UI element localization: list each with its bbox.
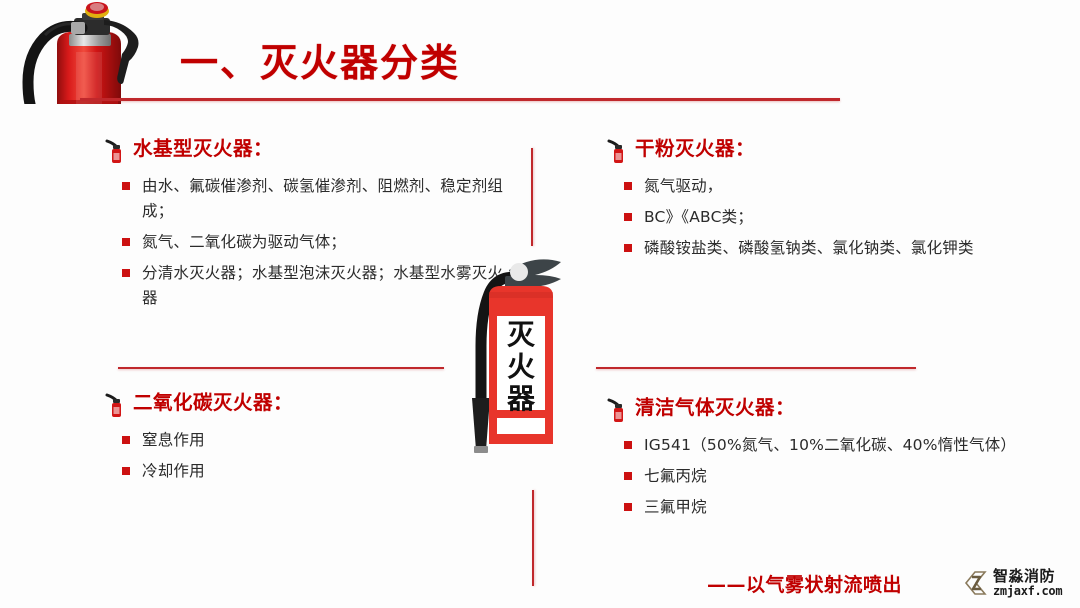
bullet-list: 氮气驱动， BC》《ABC类； 磷酸铵盐类、磷酸氢钠类、氯化钠类、氯化钾类 xyxy=(606,174,1016,261)
footer-note: ——以气雾状射流喷出 xyxy=(707,570,902,597)
svg-text:器: 器 xyxy=(506,382,536,415)
fire-extinguisher-photo-icon xyxy=(0,0,175,104)
section-heading-row: 干粉灭火器： xyxy=(606,138,1016,165)
brand-name: 智淼消防 xyxy=(993,569,1062,585)
list-item: 氮气驱动， xyxy=(644,174,1016,199)
list-item-text: 冷却作用 xyxy=(142,462,205,480)
section-heading-row: 清洁气体灭火器： xyxy=(606,397,1026,424)
list-item-text: BC》《ABC类； xyxy=(644,208,753,226)
square-bullet-icon xyxy=(624,213,632,221)
list-item: IG541（50%氮气、10%二氧化碳、40%惰性气体） xyxy=(644,433,1026,458)
bullet-list: 由水、氟碳催渗剂、碳氢催渗剂、阻燃剂、稳定剂组成； 氮气、二氧化碳为驱动气体； … xyxy=(104,174,504,312)
square-bullet-icon xyxy=(624,472,632,480)
divider-center-vertical-bottom xyxy=(532,490,534,586)
list-item: BC》《ABC类； xyxy=(644,205,1016,230)
brand-text-group: 智淼消防 zmjaxf.com xyxy=(993,569,1062,597)
square-bullet-icon xyxy=(122,182,130,190)
section-clean-gas-extinguisher: 清洁气体灭火器： IG541（50%氮气、10%二氧化碳、40%惰性气体） 七氟… xyxy=(606,397,1026,526)
svg-text:火: 火 xyxy=(507,350,535,383)
section-carbon-dioxide-extinguisher: 二氧化碳灭火器： 窒息作用 冷却作用 xyxy=(104,392,504,490)
bullet-list: 窒息作用 冷却作用 xyxy=(104,428,504,484)
square-bullet-icon xyxy=(624,244,632,252)
zmjaxf-logo-icon xyxy=(963,568,989,598)
section-heading-row: 二氧化碳灭火器： xyxy=(104,392,504,419)
list-item-text: 三氟甲烷 xyxy=(644,498,707,516)
fire-extinguisher-icon xyxy=(104,393,126,419)
fire-extinguisher-icon xyxy=(104,139,126,165)
list-item-text: 磷酸铵盐类、磷酸氢钠类、氯化钠类、氯化钾类 xyxy=(644,239,974,257)
brand-watermark: 智淼消防 zmjaxf.com xyxy=(963,568,1062,598)
square-bullet-icon xyxy=(122,467,130,475)
list-item: 三氟甲烷 xyxy=(644,495,1026,520)
square-bullet-icon xyxy=(624,182,632,190)
square-bullet-icon xyxy=(624,441,632,449)
bullet-list: IG541（50%氮气、10%二氧化碳、40%惰性气体） 七氟丙烷 三氟甲烷 xyxy=(606,433,1026,520)
divider-left-horizontal xyxy=(118,367,444,369)
list-item: 由水、氟碳催渗剂、碳氢催渗剂、阻燃剂、稳定剂组成； xyxy=(142,174,504,224)
list-item: 七氟丙烷 xyxy=(644,464,1026,489)
title-underline-divider xyxy=(80,98,840,101)
section-water-based-extinguisher: 水基型灭火器： 由水、氟碳催渗剂、碳氢催渗剂、阻燃剂、稳定剂组成； 氮气、二氧化… xyxy=(104,138,504,318)
section-heading-label: 二氧化碳灭火器： xyxy=(133,392,293,413)
square-bullet-icon xyxy=(122,269,130,277)
fire-extinguisher-illustration-icon: 灭 火 器 xyxy=(447,248,595,488)
list-item-text: 窒息作用 xyxy=(142,431,205,449)
list-item: 磷酸铵盐类、磷酸氢钠类、氯化钠类、氯化钾类 xyxy=(644,236,1016,261)
square-bullet-icon xyxy=(624,503,632,511)
brand-url: zmjaxf.com xyxy=(993,585,1062,598)
section-heading-row: 水基型灭火器： xyxy=(104,138,504,165)
divider-right-horizontal xyxy=(596,367,916,369)
list-item-text: 氮气、二氧化碳为驱动气体； xyxy=(142,233,346,251)
section-dry-powder-extinguisher: 干粉灭火器： 氮气驱动， BC》《ABC类； 磷酸铵盐类、磷酸氢钠类、氯化钠类、… xyxy=(606,138,1016,267)
section-heading-label: 干粉灭火器： xyxy=(635,138,755,159)
section-heading-label: 清洁气体灭火器： xyxy=(635,397,795,418)
svg-text:灭: 灭 xyxy=(507,318,536,351)
square-bullet-icon xyxy=(122,238,130,246)
slide-canvas: 一、灭火器分类 水基型灭火器： 由水、氟碳催渗剂、碳氢催渗剂、阻燃剂、稳定剂组成… xyxy=(0,0,1080,608)
list-item-text: IG541（50%氮气、10%二氧化碳、40%惰性气体） xyxy=(644,436,1016,454)
square-bullet-icon xyxy=(122,436,130,444)
list-item-text: 由水、氟碳催渗剂、碳氢催渗剂、阻燃剂、稳定剂组成； xyxy=(142,177,503,220)
fire-extinguisher-icon xyxy=(606,398,628,424)
divider-center-vertical-top xyxy=(531,148,533,246)
fire-extinguisher-icon xyxy=(606,139,628,165)
section-heading-label: 水基型灭火器： xyxy=(133,138,273,159)
list-item-text: 七氟丙烷 xyxy=(644,467,707,485)
list-item-text: 氮气驱动， xyxy=(644,177,723,195)
page-title: 一、灭火器分类 xyxy=(180,44,460,82)
